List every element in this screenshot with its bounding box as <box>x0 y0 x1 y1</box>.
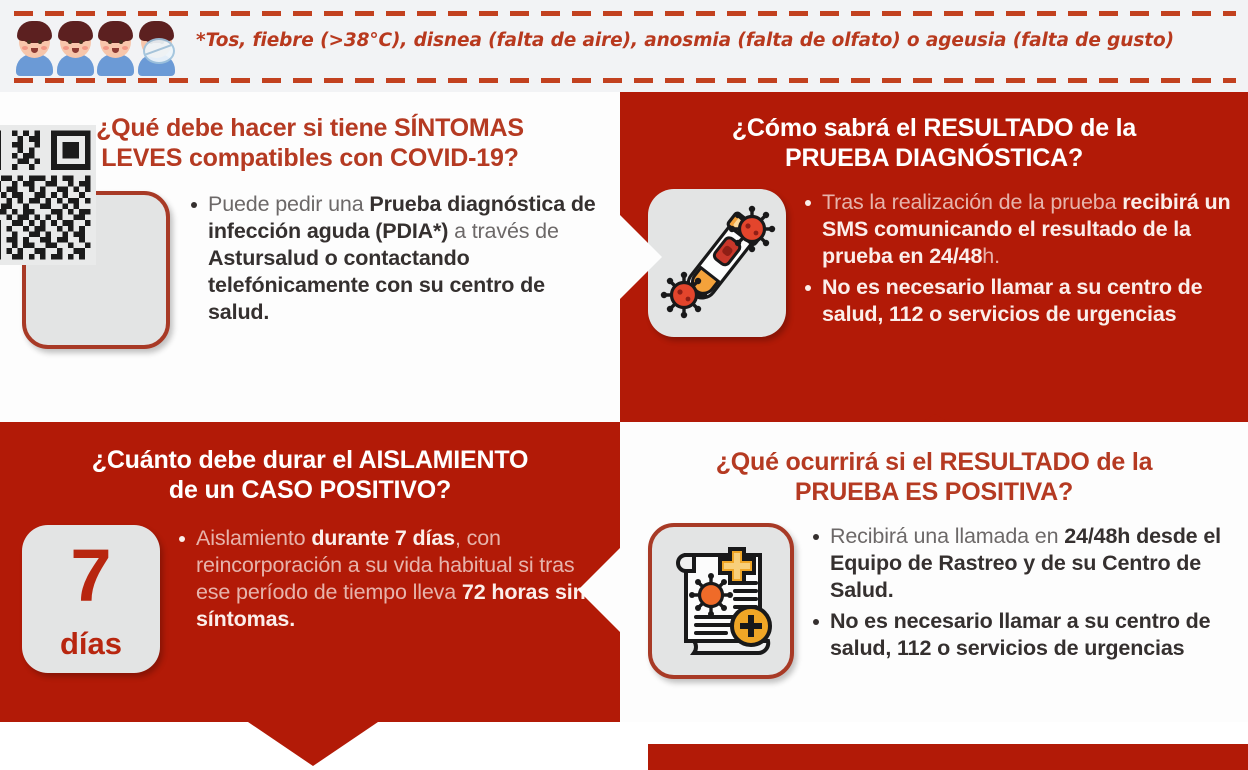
bullet-text-bold-2: Astursalud <box>208 246 319 270</box>
medical-report-scroll-icon <box>648 523 794 679</box>
panel-sintomas-bullets: Puede pedir una Prueba diagnóstica de in… <box>188 191 604 330</box>
panel-resultado-positivo: ¿Qué ocurrirá si el RESULTADO de la PRUE… <box>620 422 1248 722</box>
qr-code-matrix <box>0 120 96 270</box>
footer-red-strip <box>648 744 1248 770</box>
person-face-4-masked <box>136 18 177 78</box>
panel-resultado-title-line2: PRUEBA DIAGNÓSTICA? <box>785 144 1083 172</box>
arrow-down-connector-icon <box>248 722 378 766</box>
panel-sintomas-leves: ¿Qué debe hacer si tiene SÍNTOMAS LEVES … <box>0 92 620 422</box>
face-mask-icon <box>143 38 175 64</box>
panel-aislamiento-body: 7 días Aislamiento durante 7 días, con r… <box>0 505 620 673</box>
panel-resultado-body: Tras la realización de la prueba recibir… <box>620 173 1248 337</box>
bullet-text-plain-1: Recibirá una llamada en <box>830 524 1064 548</box>
panel-positivo-title: ¿Qué ocurrirá si el RESULTADO de la PRUE… <box>620 422 1248 507</box>
virus-particle-bottom <box>661 272 707 318</box>
person-face-2 <box>55 18 96 78</box>
plus-circle-icon <box>732 607 770 645</box>
bullet-text-bold-2: No es necesario llamar a su centro de sa… <box>822 275 1202 326</box>
panel-sintomas-title-line2: LEVES compatibles con COVID-19? <box>101 144 519 172</box>
panel-aislamiento: ¿Cuánto debe durar el AISLAMIENTO de un … <box>0 422 620 722</box>
four-people-faces-icon <box>14 16 176 78</box>
bullet-text-plain-1: Tras la realización de la prueba <box>822 190 1122 214</box>
bullet-text-bold-1: 24/48h <box>1064 524 1130 548</box>
qr-code-icon[interactable] <box>22 191 170 349</box>
list-item: No es necesario llamar a su centro de sa… <box>802 274 1234 328</box>
person-face-3 <box>95 18 136 78</box>
bullet-text-plain-2: a través de <box>448 219 559 243</box>
test-tube-virus-icon <box>648 189 786 337</box>
seven-days-badge: 7 días <box>22 525 160 673</box>
badge-number: 7 <box>22 539 160 613</box>
panel-positivo-title-line1: ¿Qué ocurrirá si el RESULTADO de la <box>716 448 1153 476</box>
test-tube-virus-glyph <box>648 189 786 337</box>
header-band: *Tos, fiebre (>38°C), disnea (falta de a… <box>0 0 1248 92</box>
panel-aislamiento-title: ¿Cuánto debe durar el AISLAMIENTO de un … <box>0 422 620 505</box>
bullet-text-plain-1: Puede pedir una <box>208 192 369 216</box>
panel-positivo-body: Recibirá una llamada en 24/48h desde el … <box>620 507 1248 679</box>
virus-particle-top <box>729 206 775 252</box>
bullet-text-plain-1: Aislamiento <box>196 526 311 550</box>
list-item: No es necesario llamar a su centro de sa… <box>810 608 1232 662</box>
panel-sintomas-body: Puede pedir una Prueba diagnóstica de in… <box>0 173 620 349</box>
person-face-1 <box>14 18 55 78</box>
panel-aislamiento-title-line2: de un CASO POSITIVO? <box>169 476 451 504</box>
bullet-text-plain-2: h. <box>982 244 1000 268</box>
list-item: Aislamiento durante 7 días, con reincorp… <box>176 525 606 633</box>
bullet-text-bold-3: No es necesario llamar a su centro de sa… <box>830 609 1210 660</box>
dashed-rule-bottom <box>14 78 1236 83</box>
infographic-page: *Tos, fiebre (>38°C), disnea (falta de a… <box>0 0 1248 770</box>
symptoms-footnote: *Tos, fiebre (>38°C), disnea (falta de a… <box>196 30 1236 52</box>
panel-sintomas-title-line1: ¿Qué debe hacer si tiene SÍNTOMAS <box>96 114 524 142</box>
panel-positivo-title-line2: PRUEBA ES POSITIVA? <box>795 478 1073 506</box>
panel-aislamiento-title-line1: ¿Cuánto debe durar el AISLAMIENTO <box>92 446 529 474</box>
list-item: Recibirá una llamada en 24/48h desde el … <box>810 523 1232 604</box>
list-item: Tras la realización de la prueba recibir… <box>802 189 1234 270</box>
panel-resultado-bullets: Tras la realización de la prueba recibir… <box>802 189 1234 332</box>
panel-resultado-title-line1: ¿Cómo sabrá el RESULTADO de la <box>732 114 1136 142</box>
panel-resultado-title: ¿Cómo sabrá el RESULTADO de la PRUEBA DI… <box>620 92 1248 173</box>
panel-resultado-prueba: ¿Cómo sabrá el RESULTADO de la PRUEBA DI… <box>620 92 1248 422</box>
panel-aislamiento-bullets: Aislamiento durante 7 días, con reincorp… <box>176 525 606 637</box>
list-item: Puede pedir una Prueba diagnóstica de in… <box>188 191 604 326</box>
badge-label: días <box>22 628 160 659</box>
panel-positivo-bullets: Recibirá una llamada en 24/48h desde el … <box>810 523 1232 666</box>
bullet-text-bold-1: durante 7 días <box>311 526 455 550</box>
dashed-rule-top <box>14 11 1236 16</box>
medical-report-glyph <box>652 527 790 675</box>
